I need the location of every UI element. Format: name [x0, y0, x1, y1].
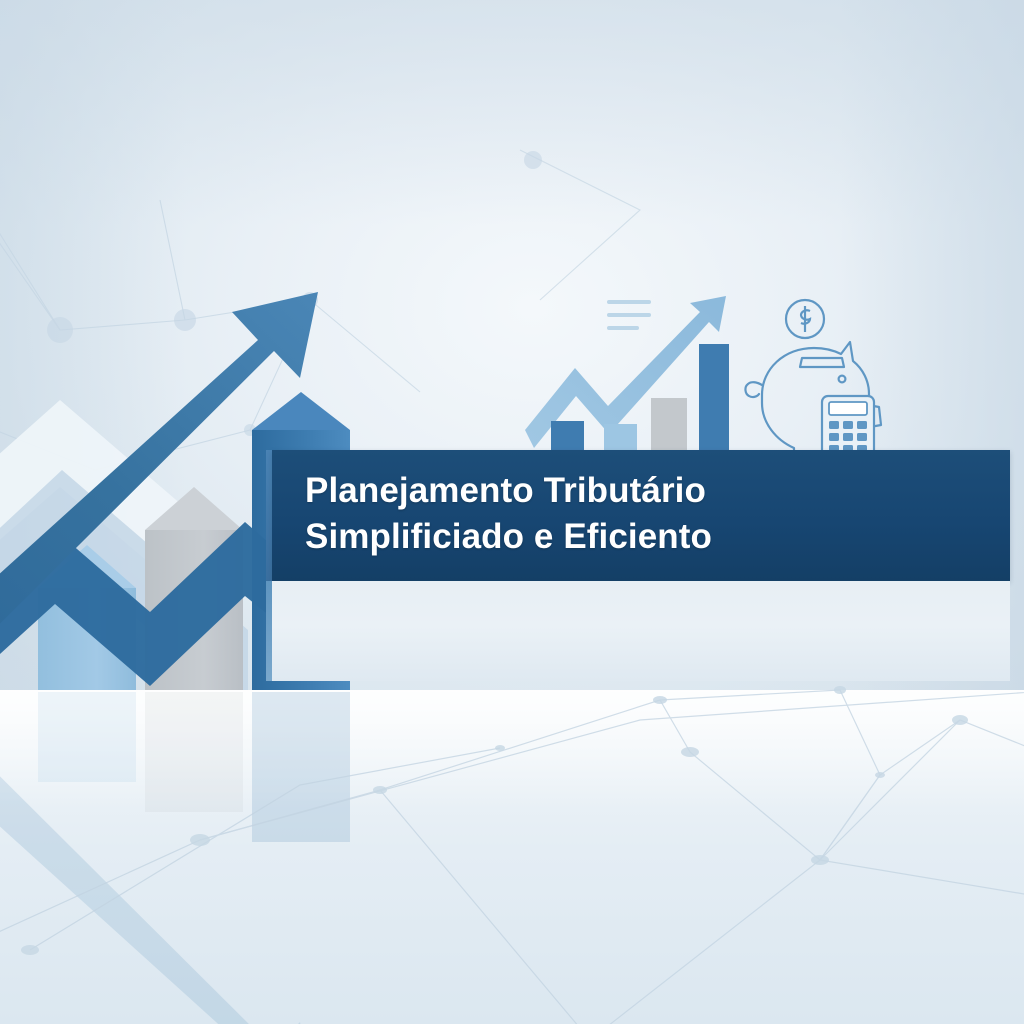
banner-canvas: Planejamento Tributário Simplificiado e …	[0, 0, 1024, 1024]
title-banner: Planejamento Tributário Simplificiado e …	[272, 450, 1010, 581]
page-title: Planejamento Tributário Simplificiado e …	[305, 468, 712, 560]
subtitle-strip: SOLUTIONS & STRATEGY	[272, 581, 1010, 681]
